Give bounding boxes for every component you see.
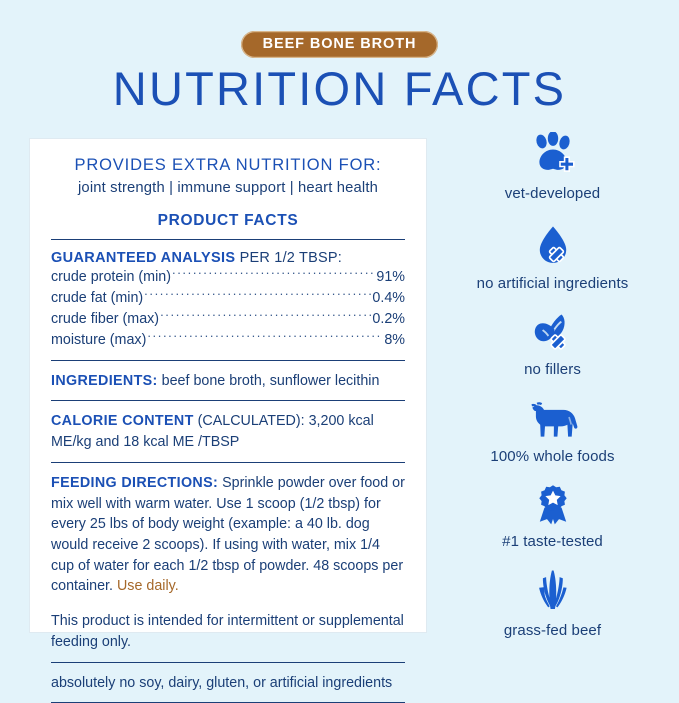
divider <box>51 462 405 463</box>
product-badge: BEEF BONE BROTH <box>241 31 439 58</box>
divider <box>51 662 405 663</box>
product-facts-heading: PRODUCT FACTS <box>51 212 405 230</box>
analysis-value: 8% <box>384 330 405 351</box>
divider <box>51 400 405 401</box>
feature-label: #1 taste-tested <box>502 533 603 550</box>
free-from-note: absolutely no soy, dairy, gluten, or art… <box>51 673 405 694</box>
analysis-value: 0.2% <box>372 309 405 330</box>
feature-label: no artificial ingredients <box>477 275 629 292</box>
guaranteed-analysis-title-light: PER 1/2 TBSP: <box>235 250 342 266</box>
cow-icon <box>524 398 582 440</box>
guaranteed-analysis-section: GUARANTEED ANALYSIS PER 1/2 TBSP: crude … <box>51 250 405 351</box>
divider <box>51 239 405 240</box>
page-title: NUTRITION FACTS <box>0 62 679 116</box>
ingredients-title: INGREDIENTS: <box>51 373 158 389</box>
table-row: crude fiber (max) 0.2% <box>51 309 405 330</box>
feature-list: vet-developed no artificial ingredients <box>440 132 665 639</box>
feeding-directions-text: Sprinkle powder over food or mix well wi… <box>51 475 405 595</box>
table-row: crude protein (min) 91% <box>51 267 405 288</box>
provides-benefits-list: joint strength | immune support | heart … <box>51 180 405 196</box>
provides-heading: PROVIDES EXTRA NUTRITION FOR: <box>51 155 405 176</box>
feature-label: grass-fed beef <box>504 622 601 639</box>
feature-label: no fillers <box>524 361 581 378</box>
guaranteed-analysis-title: GUARANTEED ANALYSIS PER 1/2 TBSP: <box>51 250 405 266</box>
guaranteed-analysis-title-bold: GUARANTEED ANALYSIS <box>51 250 235 266</box>
leader-dots <box>160 309 371 323</box>
intermittent-feeding-note: This product is intended for intermitten… <box>51 611 405 652</box>
feature-no-artificial-ingredients: no artificial ingredients <box>440 202 665 292</box>
leader-dots <box>147 330 383 344</box>
feature-taste-tested: #1 taste-tested <box>440 465 665 550</box>
feature-vet-developed: vet-developed <box>440 132 665 202</box>
calorie-content-title: CALORIE CONTENT <box>51 413 194 429</box>
analysis-value: 91% <box>376 267 405 288</box>
calorie-content-section: CALORIE CONTENT (CALCULATED): 3,200 kcal… <box>51 411 405 452</box>
table-row: moisture (max) 8% <box>51 330 405 351</box>
grass-icon <box>528 569 578 613</box>
nutrition-facts-panel: PROVIDES EXTRA NUTRITION FOR: joint stre… <box>29 138 427 633</box>
feature-label: 100% whole foods <box>490 448 614 465</box>
feeding-directions-section: FEEDING DIRECTIONS: Sprinkle powder over… <box>51 473 405 597</box>
feature-no-fillers: no fillers <box>440 292 665 378</box>
product-badge-container: BEEF BONE BROTH <box>0 31 679 58</box>
feeding-directions-title: FEEDING DIRECTIONS: <box>51 475 218 491</box>
divider <box>51 360 405 361</box>
analysis-label: moisture (max) <box>51 330 146 351</box>
feeding-directions-accent: Use daily. <box>117 578 179 594</box>
analysis-label: crude fat (min) <box>51 288 143 309</box>
paw-plus-icon <box>527 132 579 176</box>
ingredients-section: INGREDIENTS: beef bone broth, sunflower … <box>51 371 405 392</box>
table-row: crude fat (min) 0.4% <box>51 288 405 309</box>
award-ribbon-icon <box>531 484 575 526</box>
feature-grass-fed-beef: grass-fed beef <box>440 550 665 639</box>
analysis-label: crude fiber (max) <box>51 309 159 330</box>
analysis-value: 0.4% <box>372 288 405 309</box>
leader-dots <box>172 267 375 281</box>
ingredients-text: beef bone broth, sunflower lecithin <box>158 373 380 389</box>
leader-dots <box>144 288 371 302</box>
feature-whole-foods: 100% whole foods <box>440 378 665 465</box>
droplet-x-icon <box>531 225 575 267</box>
feature-label: vet-developed <box>505 185 601 202</box>
analysis-label: crude protein (min) <box>51 267 171 288</box>
guaranteed-analysis-rows: crude protein (min) 91% crude fat (min) … <box>51 267 405 351</box>
corn-x-icon <box>531 312 575 354</box>
